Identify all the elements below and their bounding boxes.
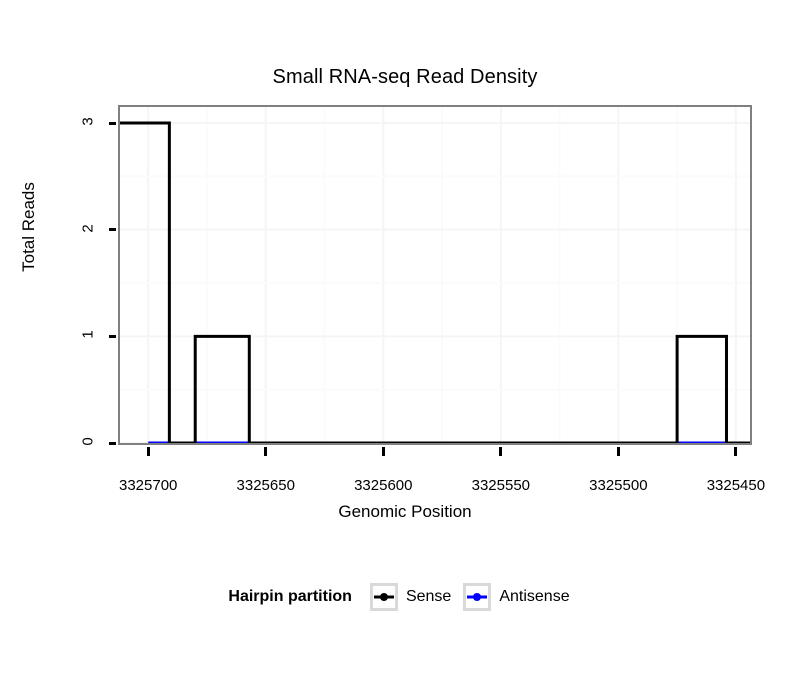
x-tick-label: 3325450 [676, 477, 796, 494]
legend-items: SenseAntisense [370, 583, 582, 611]
legend-item-sense[interactable]: Sense [370, 583, 451, 611]
x-tick-mark [734, 447, 737, 456]
legend-item-antisense[interactable]: Antisense [463, 583, 569, 611]
x-tick-label: 3325550 [441, 477, 561, 494]
chart-legend: Hairpin partition SenseAntisense [0, 583, 810, 611]
x-tick-mark [617, 447, 620, 456]
x-tick-label: 3325700 [88, 477, 208, 494]
y-tick-mark [109, 228, 116, 231]
x-tick-label: 3325600 [323, 477, 443, 494]
y-tick-label: 3 [80, 107, 97, 137]
y-axis-title: Total Reads [19, 167, 39, 287]
x-tick-mark [264, 447, 267, 456]
y-tick-mark [109, 442, 116, 445]
line-point-key-icon [463, 583, 491, 611]
y-tick-mark [109, 122, 116, 125]
x-tick-label: 3325500 [558, 477, 678, 494]
x-axis-title: Genomic Position [0, 502, 810, 522]
x-tick-mark [382, 447, 385, 456]
x-tick-mark [499, 447, 502, 456]
y-tick-label: 2 [80, 213, 97, 243]
x-tick-label: 3325650 [206, 477, 326, 494]
legend-label: Sense [406, 588, 451, 606]
x-tick-mark [147, 447, 150, 456]
y-tick-mark [109, 335, 116, 338]
plot-area [120, 107, 750, 443]
legend-title: Hairpin partition [228, 588, 352, 606]
legend-label: Antisense [499, 588, 569, 606]
y-tick-label: 0 [80, 427, 97, 457]
y-tick-label: 1 [80, 320, 97, 350]
line-point-key-icon [370, 583, 398, 611]
chart-title: Small RNA-seq Read Density [0, 66, 810, 89]
chart-figure: Small RNA-seq Read Density Total Reads 0… [0, 0, 810, 690]
plot-panel [118, 105, 752, 445]
